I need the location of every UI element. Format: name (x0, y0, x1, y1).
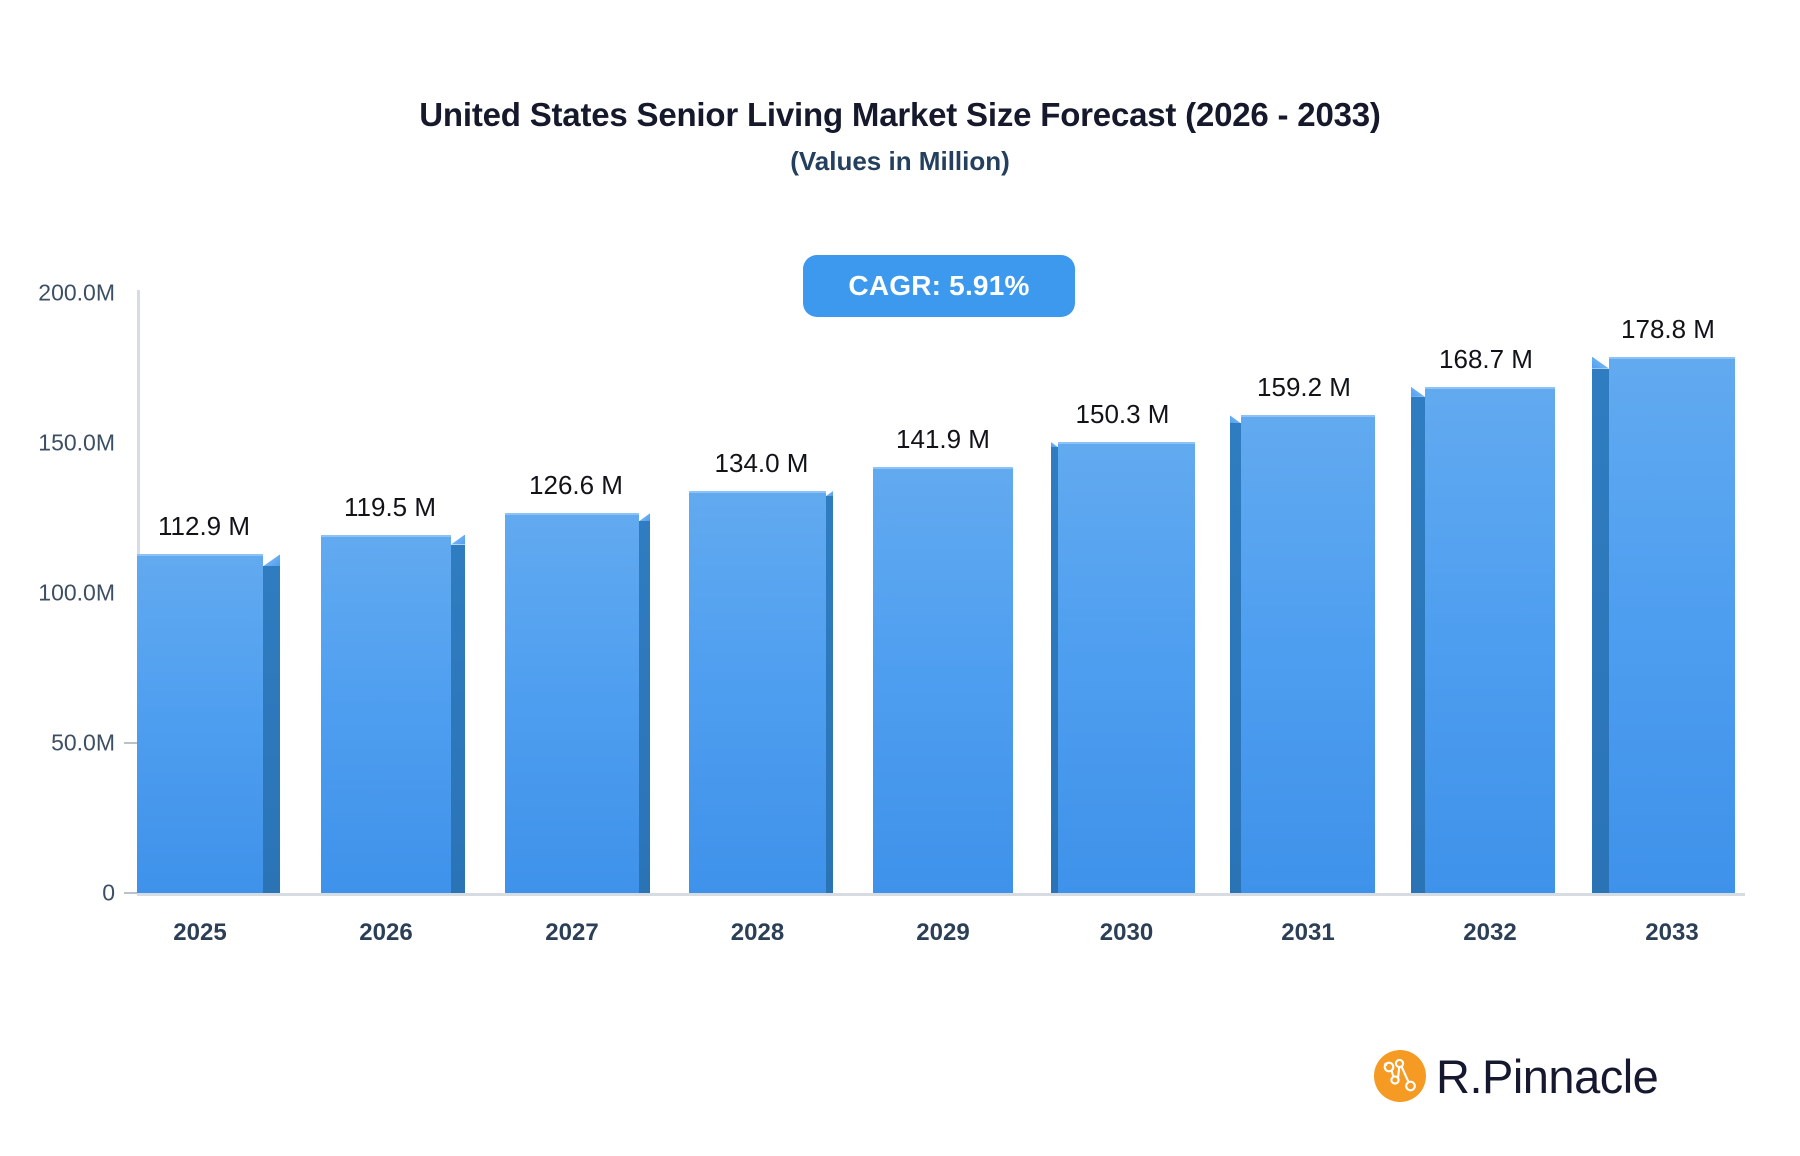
bar-front-face (137, 554, 263, 893)
bar-front-face (1241, 415, 1375, 893)
bar-value-label: 134.0 M (715, 448, 809, 479)
bar-value-label: 141.9 M (896, 424, 990, 455)
bar-top-face (1230, 415, 1241, 423)
bar[interactable]: 159.2 M2031 (1241, 415, 1375, 893)
bar-front-face (689, 491, 826, 893)
bar-front-face (873, 467, 1013, 893)
bar-front-face (1609, 357, 1735, 893)
bar-value-label: 112.9 M (158, 511, 250, 542)
chart-subtitle: (Values in Million) (0, 146, 1800, 177)
bar-side-face (1411, 397, 1425, 893)
x-axis-tick-label: 2031 (1281, 919, 1334, 947)
plot-area: 200.0M150.0M100.0M50.0M0 112.9 M2025119.… (137, 290, 1745, 896)
x-axis-tick-label: 2032 (1463, 919, 1516, 947)
bar-side-face (263, 566, 280, 893)
bar-side-face (1592, 369, 1609, 893)
bar-top-face (1592, 357, 1609, 369)
bar-value-label: 126.6 M (529, 470, 623, 501)
bar-top-face (1411, 387, 1425, 397)
page-title: United States Senior Living Market Size … (0, 96, 1800, 134)
bar-side-face (639, 521, 650, 893)
chart-canvas: United States Senior Living Market Size … (0, 0, 1800, 1156)
bar[interactable]: 168.7 M2032 (1425, 387, 1555, 893)
x-axis-line (137, 893, 1745, 896)
bar[interactable]: 178.8 M2033 (1609, 357, 1735, 893)
bar[interactable]: 134.0 M2028 (689, 491, 826, 893)
bar-value-label: 119.5 M (344, 492, 436, 523)
bar-side-face (1051, 447, 1058, 893)
bar-value-label: 159.2 M (1257, 372, 1351, 403)
bar-side-face (451, 545, 465, 894)
x-axis-tick-label: 2030 (1100, 919, 1153, 947)
bar-value-label: 150.3 M (1076, 399, 1170, 430)
y-axis-tick-mark (124, 892, 137, 894)
bar-top-face (451, 535, 465, 545)
bar-front-face (321, 535, 451, 894)
bar[interactable]: 141.9 M2029 (873, 467, 1013, 893)
bar-value-label: 178.8 M (1621, 314, 1715, 345)
y-axis-tick-mark (124, 742, 137, 744)
y-axis-tick-label: 150.0M (38, 430, 115, 457)
y-axis-tick-label: 0 (102, 880, 115, 907)
network-nodes-icon (1374, 1050, 1426, 1102)
bar[interactable]: 150.3 M2030 (1058, 442, 1195, 893)
x-axis-tick-label: 2033 (1645, 919, 1698, 947)
bar-top-face (1051, 442, 1058, 447)
bar-top-face (263, 554, 280, 566)
bar-side-face (1230, 423, 1241, 893)
bar[interactable]: 119.5 M2026 (321, 535, 451, 894)
x-axis-tick-label: 2028 (731, 919, 784, 947)
x-axis-tick-label: 2027 (545, 919, 598, 947)
logo-wordmark: R.Pinnacle (1436, 1053, 1658, 1100)
bar-front-face (1058, 442, 1195, 893)
brand-logo: R.Pinnacle (1374, 1045, 1658, 1107)
bar-value-label: 168.7 M (1439, 344, 1533, 375)
y-axis-tick-label: 50.0M (51, 730, 115, 757)
x-axis-tick-label: 2026 (359, 919, 412, 947)
x-axis-tick-label: 2029 (916, 919, 969, 947)
y-axis-tick-label: 200.0M (38, 280, 115, 307)
bar-top-face (639, 513, 650, 521)
bar-front-face (1425, 387, 1555, 893)
bar[interactable]: 126.6 M2027 (505, 513, 639, 893)
bar[interactable]: 112.9 M2025 (137, 554, 263, 893)
bar-side-face (826, 496, 833, 893)
bar-front-face (505, 513, 639, 893)
x-axis-tick-label: 2025 (173, 919, 226, 947)
y-axis-tick-label: 100.0M (38, 580, 115, 607)
